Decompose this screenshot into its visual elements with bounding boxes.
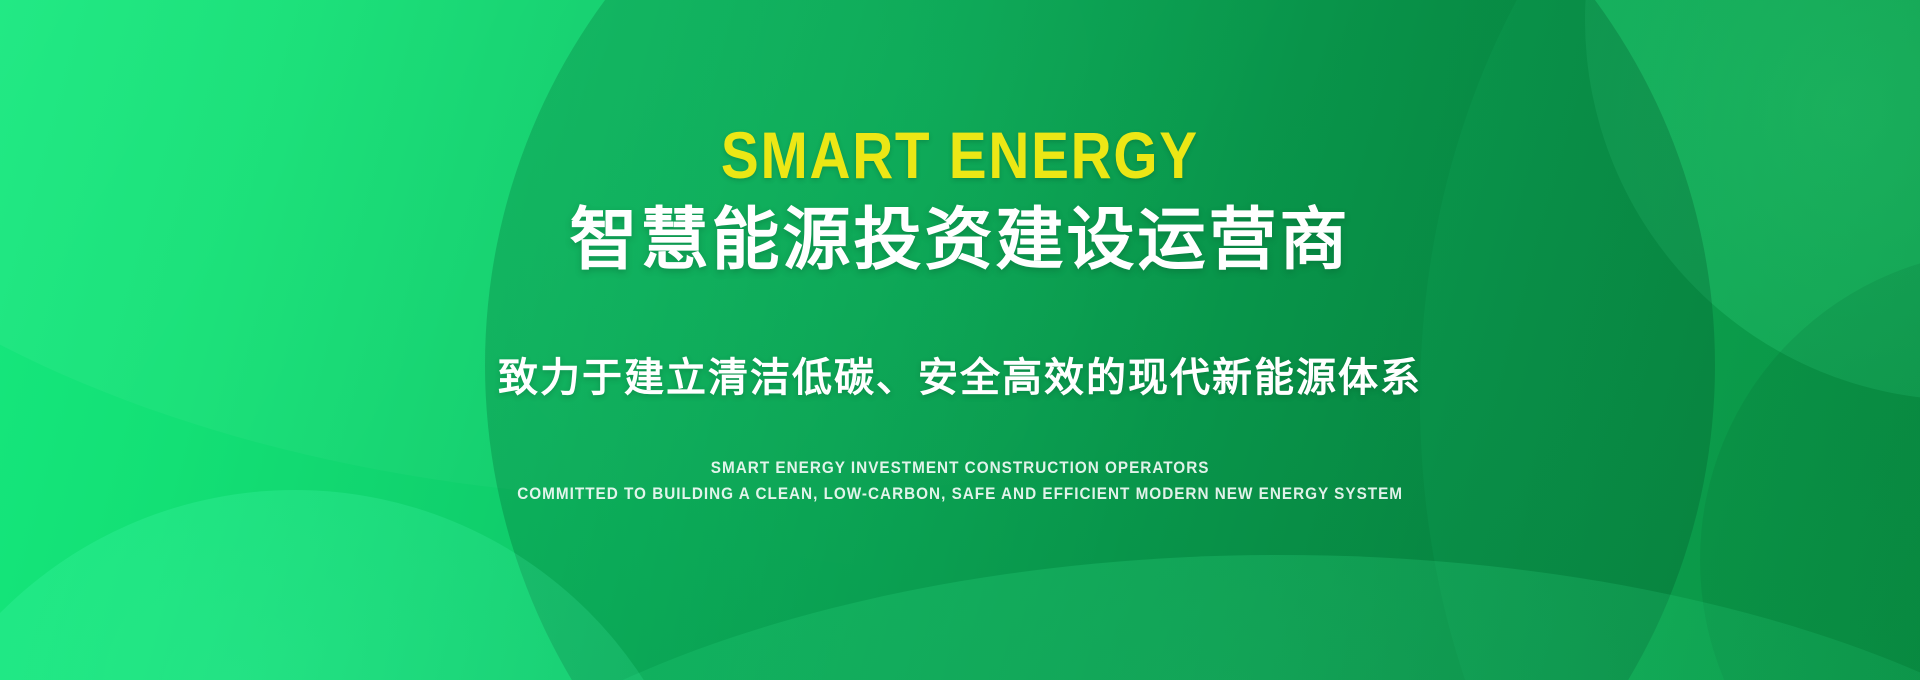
smart-energy-hero-banner: SMART ENERGY 智慧能源投资建设运营商 致力于建立清洁低碳、安全高效的… <box>0 0 1920 680</box>
tagline-english-line-2: COMMITTED TO BUILDING A CLEAN, LOW-CARBO… <box>517 481 1403 507</box>
banner-content: SMART ENERGY 智慧能源投资建设运营商 致力于建立清洁低碳、安全高效的… <box>0 0 1920 680</box>
headline-english: SMART ENERGY <box>721 122 1199 188</box>
tagline-english-line-1: SMART ENERGY INVESTMENT CONSTRUCTION OPE… <box>517 455 1403 481</box>
headline-chinese: 智慧能源投资建设运营商 <box>569 204 1350 276</box>
tagline-english: SMART ENERGY INVESTMENT CONSTRUCTION OPE… <box>517 455 1403 508</box>
subheadline-chinese: 致力于建立清洁低碳、安全高效的现代新能源体系 <box>498 356 1422 400</box>
